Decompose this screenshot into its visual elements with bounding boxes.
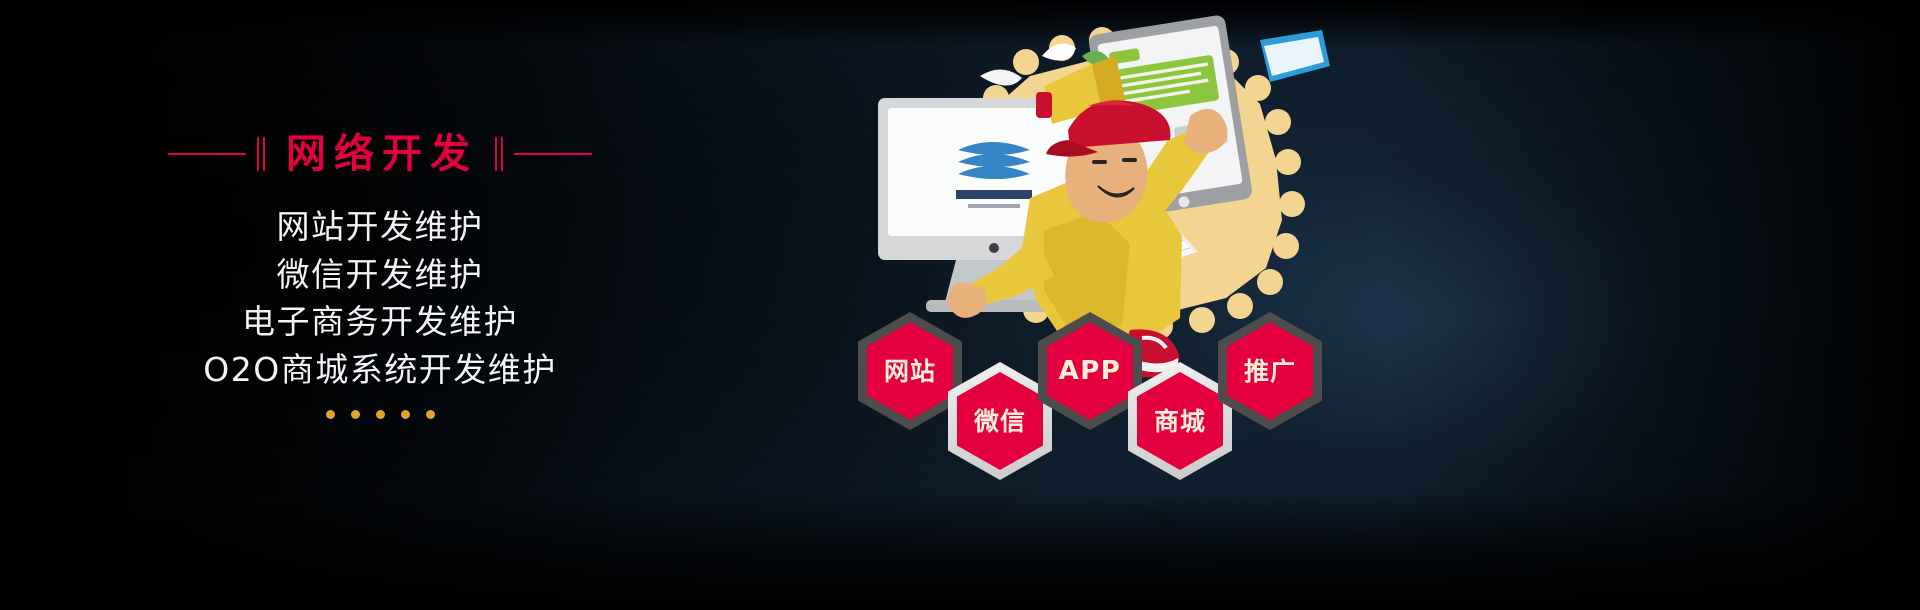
badge-wangzhan[interactable]: 网站 [858,312,962,430]
subtitle-line: 网站开发维护 [276,206,483,248]
subtitle-list: 网站开发维护 微信开发维护 电子商务开发维护 O2O商城系统开发维护 [203,206,556,390]
headline-right-rule [514,153,592,155]
dot-icon [426,410,435,419]
bar-glyph [501,137,503,171]
badge-label: 商城 [1154,409,1206,434]
paper-sheet [1260,30,1330,82]
text-panel: 网络开发 网站开发维护 微信开发维护 电子商务开发维护 O2O商城系统开发维护 [0,0,760,610]
badge-weixin[interactable]: 微信 [948,362,1052,480]
dot-icon [401,410,410,419]
bar-glyph [257,137,259,171]
bar-glyph [263,137,265,171]
badge-label: 推广 [1244,359,1296,384]
dot-icon [351,410,360,419]
subtitle-line: O2O商城系统开发维护 [203,349,556,391]
badge-label: 网站 [884,359,936,384]
badge-cluster: 网站 微信 APP 商城 推广 [850,300,1370,480]
banner-root: 网络开发 网站开发维护 微信开发维护 电子商务开发维护 O2O商城系统开发维护 [0,0,1920,610]
subtitle-line: 微信开发维护 [276,254,483,296]
headline-left-rule [168,153,246,155]
subtitle-line: 电子商务开发维护 [242,301,518,343]
bar-glyph [495,137,497,171]
dot-separator [326,410,435,419]
badge-shangcheng[interactable]: 商城 [1128,362,1232,480]
monitor-logo [956,142,1032,208]
badge-app[interactable]: APP [1038,312,1142,430]
dot-icon [376,410,385,419]
badge-label: 微信 [974,409,1026,434]
page-title: 网络开发 [276,134,484,174]
badge-tuiguang[interactable]: 推广 [1218,312,1322,430]
headline-row: 网络开发 [168,126,592,182]
headline-left-bars [257,137,265,171]
dot-icon [326,410,335,419]
headline-right-bars [495,137,503,171]
badge-label: APP [1059,358,1122,384]
